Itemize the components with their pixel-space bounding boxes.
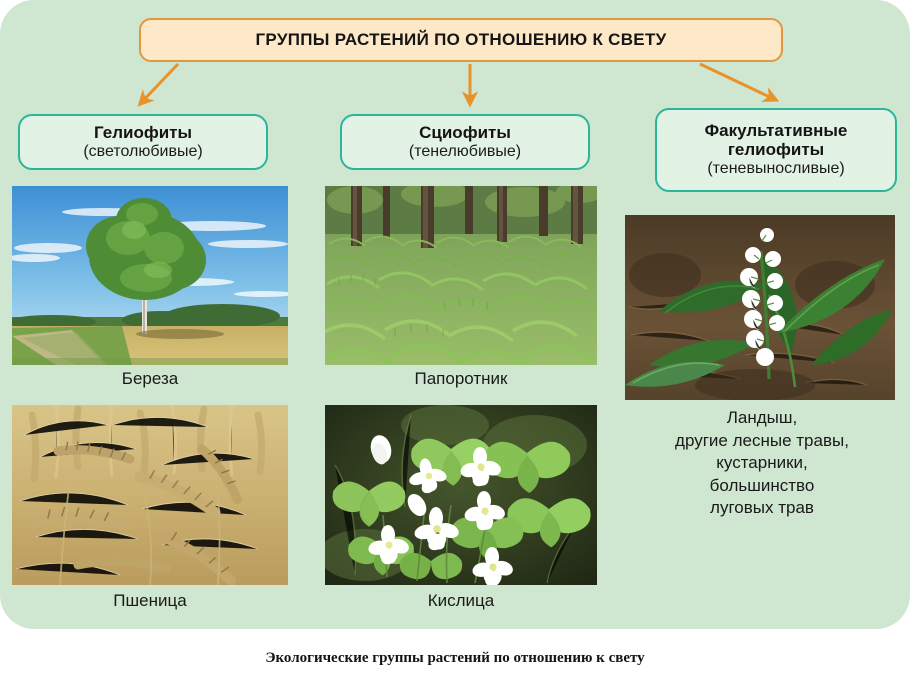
diagram-page: ГРУППЫ РАСТЕНИЙ ПО ОТНОШЕНИЮ К СВЕТУ Гел… [0,0,910,686]
description-line: кустарники, [620,452,904,475]
category-box-sciophytes: Сциофиты (тенелюбивые) [340,114,590,170]
category-box-heliophytes: Гелиофиты (светолюбивые) [18,114,268,170]
category-subtitle: (теневыносливые) [707,160,844,178]
category-title-line2: гелиофиты [728,140,824,159]
diagram-title-box: ГРУППЫ РАСТЕНИЙ ПО ОТНОШЕНИЮ К СВЕТУ [139,18,783,62]
description-line: луговых трав [620,497,904,520]
birch-tree-field-photo [12,186,288,365]
category-title: Сциофиты [419,123,511,142]
category-title-line1: Факультативные [705,121,848,140]
facultative-description: Ландыш, другие лесные травы, кустарники,… [620,407,904,520]
photo-caption-birch: Береза [12,369,288,389]
photo-caption-sorrel: Кислица [325,591,597,611]
wheat-field-photo [12,405,288,585]
description-line: другие лесные травы, [620,430,904,453]
category-box-facultative-heliophytes: Факультативные гелиофиты (теневыносливые… [655,108,897,192]
category-subtitle: (тенелюбивые) [409,143,521,161]
fern-forest-photo [325,186,597,365]
description-line: Ландыш, [620,407,904,430]
photo-caption-wheat: Пшеница [12,591,288,611]
page-title: ГРУППЫ РАСТЕНИЙ ПО ОТНОШЕНИЮ К СВЕТУ [255,30,666,50]
lily-of-the-valley-photo [625,215,895,400]
photo-caption-fern: Папоротник [325,369,597,389]
wood-sorrel-photo [325,405,597,585]
category-title: Гелиофиты [94,123,192,142]
figure-caption: Экологические группы растений по отношен… [0,650,910,667]
category-subtitle: (светолюбивые) [83,143,202,161]
description-line: большинство [620,475,904,498]
